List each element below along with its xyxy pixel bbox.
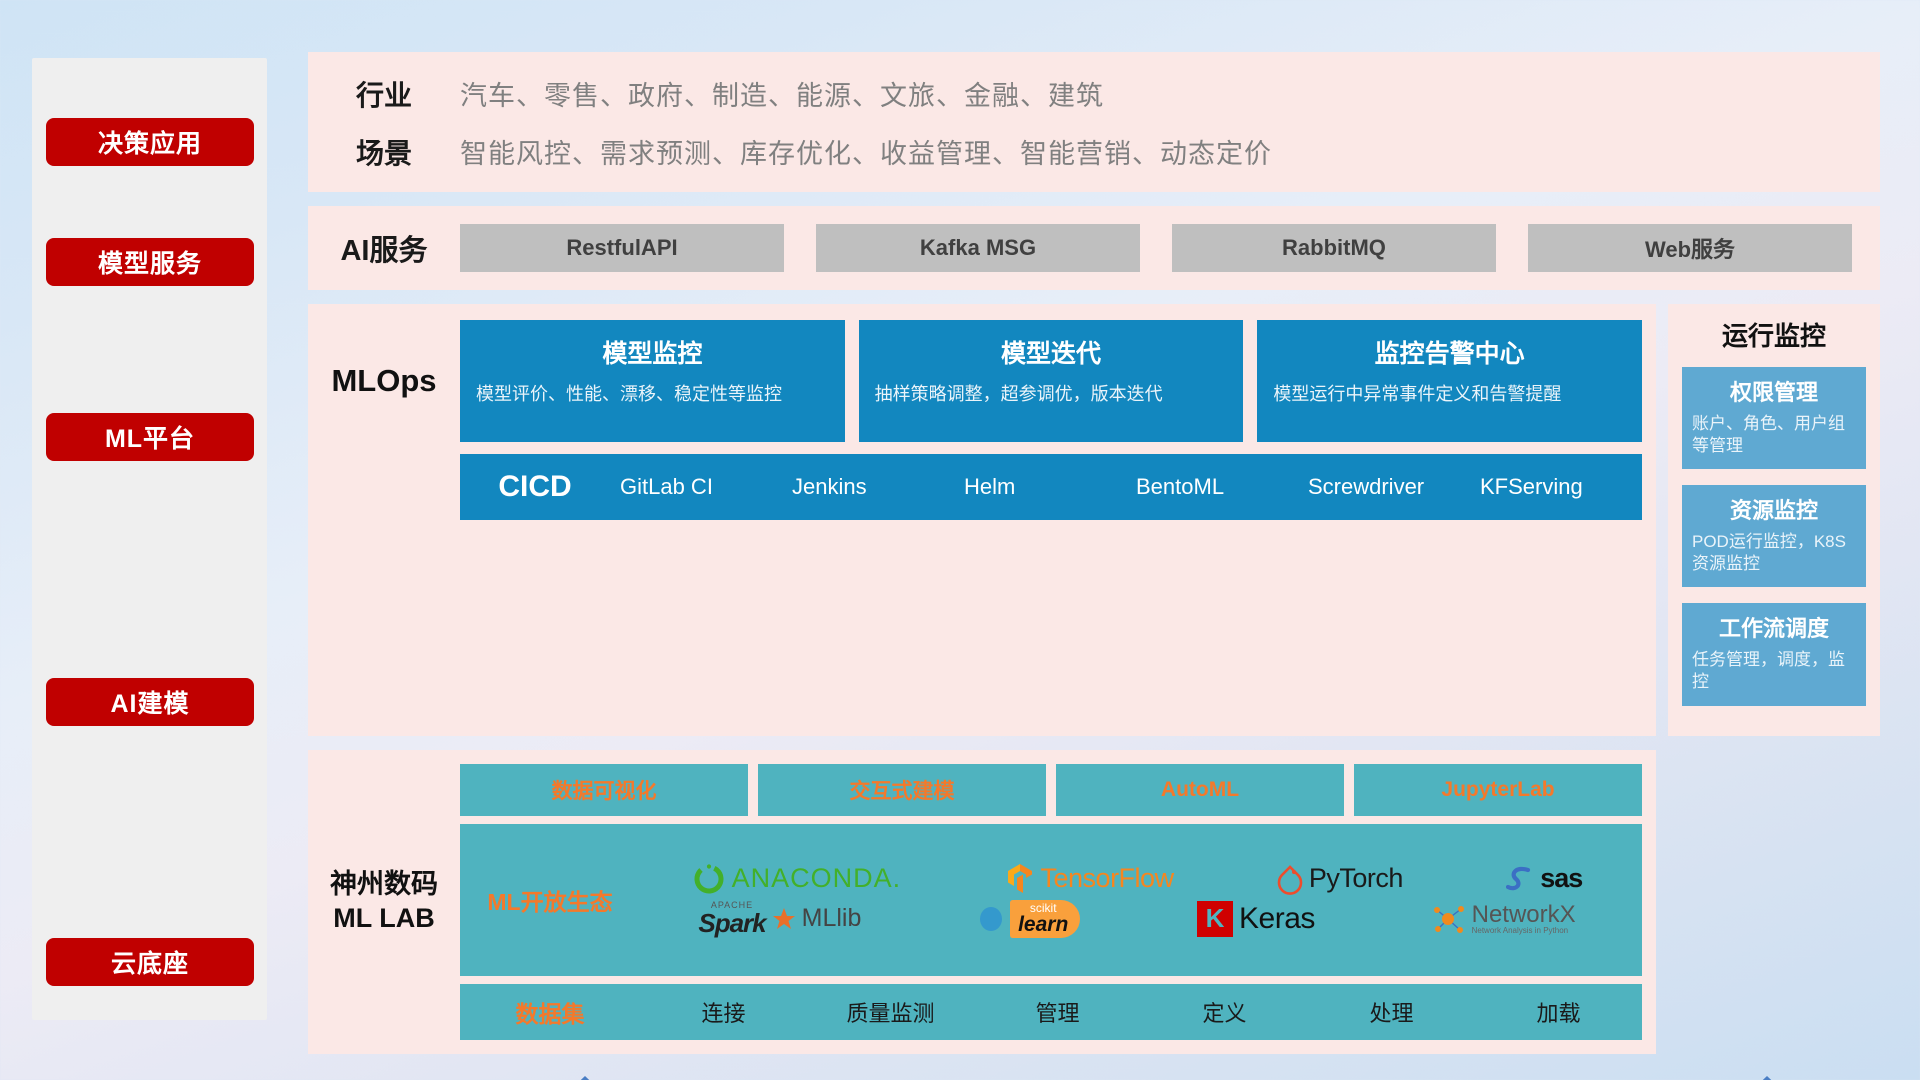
cicd-item-bentoml[interactable]: BentoML: [1126, 475, 1298, 498]
card-title: 监控告警中心: [1273, 334, 1626, 370]
ai-chip-restfulapi[interactable]: RestfulAPI: [460, 224, 784, 272]
dataset-title: 数据集: [460, 995, 640, 1029]
cicd-bar: CICD GitLab CI Jenkins Helm BentoML Scre…: [460, 454, 1642, 520]
cicd-item-screwdriver[interactable]: Screwdriver: [1298, 475, 1470, 498]
scikit-top-text: scikit: [1030, 902, 1057, 914]
mlops-card-list: 模型监控 模型评价、性能、漂移、稳定性等监控 模型迭代 抽样策略调整，超参调优，…: [460, 320, 1656, 442]
anaconda-icon: [692, 862, 726, 896]
ml-lab-band: 神州数码 ML LAB 数据可视化 交互式建模 AutoML JupyterLa…: [308, 750, 1656, 1054]
spark-wordmark: Spark: [698, 910, 765, 936]
ml-lab-row: 神州数码 ML LAB 数据可视化 交互式建模 AutoML JupyterLa…: [308, 750, 1880, 1054]
card-desc: 抽样策略调整，超参调优，版本迭代: [875, 382, 1228, 406]
lab-tab-data-visualization[interactable]: 数据可视化: [460, 764, 748, 816]
scenario-values: 智能风控、需求预测、库存优化、收益管理、智能营销、动态定价: [460, 132, 1272, 171]
dataset-item-define[interactable]: 定义: [1141, 996, 1308, 1028]
networkx-wordmark: NetworkX: [1472, 902, 1576, 927]
runtime-monitor-panel: 运行监控 权限管理 账户、角色、用户组等管理 资源监控 POD运行监控，K8S资…: [1668, 304, 1880, 736]
networkx-logo[interactable]: NetworkX Network Analysis in Python: [1432, 902, 1576, 936]
ai-service-label: AI服务: [308, 227, 460, 269]
ml-lab-label-line2: ML LAB: [308, 902, 460, 936]
scikit-bottom-text: learn: [1018, 914, 1068, 935]
ai-chip-web-service[interactable]: Web服务: [1528, 224, 1852, 272]
sas-icon: [1506, 864, 1534, 894]
rail-label: ML平台: [105, 419, 195, 455]
dataset-item-process[interactable]: 处理: [1308, 996, 1475, 1028]
rail-label: AI建模: [110, 684, 189, 720]
ml-lab-label-line1: 神州数码: [308, 868, 460, 902]
industry-values: 汽车、零售、政府、制造、能源、文旅、金融、建筑: [460, 74, 1104, 113]
mlops-card-model-monitoring[interactable]: 模型监控 模型评价、性能、漂移、稳定性等监控: [460, 320, 845, 442]
monitor-card-resource[interactable]: 资源监控 POD运行监控，K8S资源监控: [1682, 485, 1866, 587]
scikit-learn-logo[interactable]: scikit learn: [978, 900, 1080, 938]
spark-mllib-logo[interactable]: APACHE Spark MLlib: [698, 901, 861, 936]
mlops-card-alert-center[interactable]: 监控告警中心 模型运行中异常事件定义和告警提醒: [1257, 320, 1642, 442]
card-desc: 账户、角色、用户组等管理: [1692, 413, 1856, 457]
pytorch-logo[interactable]: PyTorch: [1277, 863, 1403, 895]
monitor-card-workflow[interactable]: 工作流调度 任务管理，调度，监控: [1682, 603, 1866, 705]
industry-key: 行业: [308, 74, 460, 114]
keras-wordmark: Keras: [1239, 902, 1315, 936]
card-title: 模型迭代: [875, 334, 1228, 370]
lab-tab-jupyterlab[interactable]: JupyterLab: [1354, 764, 1642, 816]
dataset-item-quality-monitoring[interactable]: 质量监测: [807, 996, 974, 1028]
card-title: 权限管理: [1692, 375, 1856, 407]
ai-chip-rabbitmq[interactable]: RabbitMQ: [1172, 224, 1496, 272]
ai-service-band: AI服务 RestfulAPI Kafka MSG RabbitMQ Web服务: [308, 206, 1880, 290]
rail-label: 云底座: [111, 944, 189, 980]
engine-up-arrow-icon: [1744, 1076, 1790, 1080]
ai-chip-kafka-msg[interactable]: Kafka MSG: [816, 224, 1140, 272]
rail-label: 决策应用: [98, 124, 202, 160]
cicd-item-kfserving[interactable]: KFServing: [1470, 475, 1642, 498]
mlops-row: MLOps 模型监控 模型评价、性能、漂移、稳定性等监控 模型迭代 抽样策略调整…: [308, 304, 1880, 736]
networkx-tagline: Network Analysis in Python: [1472, 927, 1576, 935]
card-title: 工作流调度: [1692, 611, 1856, 643]
ml-ecosystem-label: ML开放生态: [460, 883, 640, 917]
monitor-title: 运行监控: [1682, 316, 1866, 353]
anaconda-logo[interactable]: ANACONDA.: [692, 862, 902, 896]
ml-lab-tab-list: 数据可视化 交互式建模 AutoML JupyterLab: [460, 764, 1642, 816]
cicd-item-jenkins[interactable]: Jenkins: [782, 475, 954, 498]
mlops-band: MLOps 模型监控 模型评价、性能、漂移、稳定性等监控 模型迭代 抽样策略调整…: [308, 304, 1656, 736]
cicd-title: CICD: [460, 470, 610, 504]
architecture-main: 行业 汽车、零售、政府、制造、能源、文旅、金融、建筑 场景 智能风控、需求预测、…: [308, 52, 1880, 1080]
decision-apps-band: 行业 汽车、零售、政府、制造、能源、文旅、金融、建筑 场景 智能风控、需求预测、…: [308, 52, 1880, 192]
card-desc: 任务管理，调度，监控: [1692, 649, 1856, 693]
dataset-item-list: 连接 质量监测 管理 定义 处理 加载: [640, 996, 1642, 1028]
pytorch-icon: [1277, 863, 1303, 895]
ml-ecosystem-box: ML开放生态 ANACONDA.: [460, 824, 1642, 976]
cicd-item-list: GitLab CI Jenkins Helm BentoML Screwdriv…: [610, 475, 1642, 498]
rail-label: 模型服务: [98, 244, 202, 280]
cicd-item-helm[interactable]: Helm: [954, 475, 1126, 498]
mlops-card-model-iteration[interactable]: 模型迭代 抽样策略调整，超参调优，版本迭代: [859, 320, 1244, 442]
monitor-card-permission[interactable]: 权限管理 账户、角色、用户组等管理: [1682, 367, 1866, 469]
rail-item-decision-apps[interactable]: 决策应用: [46, 118, 254, 166]
sas-wordmark: sas: [1540, 863, 1582, 894]
rail-item-model-service[interactable]: 模型服务: [46, 238, 254, 286]
industry-row: 行业 汽车、零售、政府、制造、能源、文旅、金融、建筑: [308, 74, 1880, 114]
card-desc: POD运行监控，K8S资源监控: [1692, 531, 1856, 575]
card-title: 模型监控: [476, 334, 829, 370]
ml-lab-label: 神州数码 ML LAB: [308, 868, 460, 936]
left-layer-rail: 决策应用 模型服务 ML平台 AI建模 云底座: [32, 58, 267, 1020]
dataset-bar: 数据集 连接 质量监测 管理 定义 处理 加载: [460, 984, 1642, 1040]
spark-star-icon: [772, 907, 796, 931]
card-title: 资源监控: [1692, 493, 1856, 525]
card-desc: 模型运行中异常事件定义和告警提醒: [1273, 382, 1626, 406]
scenario-row: 场景 智能风控、需求预测、库存优化、收益管理、智能营销、动态定价: [308, 132, 1880, 172]
rail-item-cloud-base[interactable]: 云底座: [46, 938, 254, 986]
sas-logo[interactable]: sas: [1506, 863, 1582, 894]
scikit-blue-blob-icon: [978, 906, 1004, 932]
tensorflow-icon: [1005, 862, 1035, 896]
card-desc: 模型评价、性能、漂移、稳定性等监控: [476, 382, 829, 406]
keras-logo[interactable]: K Keras: [1197, 901, 1315, 937]
lab-tab-automl[interactable]: AutoML: [1056, 764, 1344, 816]
mlops-label: MLOps: [308, 363, 460, 399]
dataset-item-load[interactable]: 加载: [1475, 996, 1642, 1028]
tensorflow-logo[interactable]: TensorFlow: [1005, 862, 1174, 896]
ai-service-chip-list: RestfulAPI Kafka MSG RabbitMQ Web服务: [460, 224, 1880, 272]
ecosystem-logo-row-2: APACHE Spark MLlib: [640, 900, 1634, 938]
ecosystem-logo-row-1: ANACONDA. TensorFlow: [640, 862, 1634, 896]
pytorch-wordmark: PyTorch: [1309, 863, 1403, 894]
anaconda-wordmark: ANACONDA.: [732, 863, 902, 894]
keras-mark-icon: K: [1197, 901, 1233, 937]
rail-item-ai-modeling[interactable]: AI建模: [46, 678, 254, 726]
lab-tab-interactive-modeling[interactable]: 交互式建模: [758, 764, 1046, 816]
scenario-key: 场景: [308, 132, 460, 172]
tensorflow-wordmark: TensorFlow: [1041, 863, 1174, 894]
mllib-wordmark: MLlib: [802, 904, 862, 933]
rail-item-ml-platform[interactable]: ML平台: [46, 413, 254, 461]
networkx-graph-icon: [1432, 903, 1466, 935]
dataset-item-connect[interactable]: 连接: [640, 996, 807, 1028]
paas-up-arrow-icon: [562, 1076, 608, 1080]
keras-mark-letter: K: [1206, 903, 1225, 934]
dataset-item-manage[interactable]: 管理: [974, 996, 1141, 1028]
cicd-item-gitlab-ci[interactable]: GitLab CI: [610, 475, 782, 498]
